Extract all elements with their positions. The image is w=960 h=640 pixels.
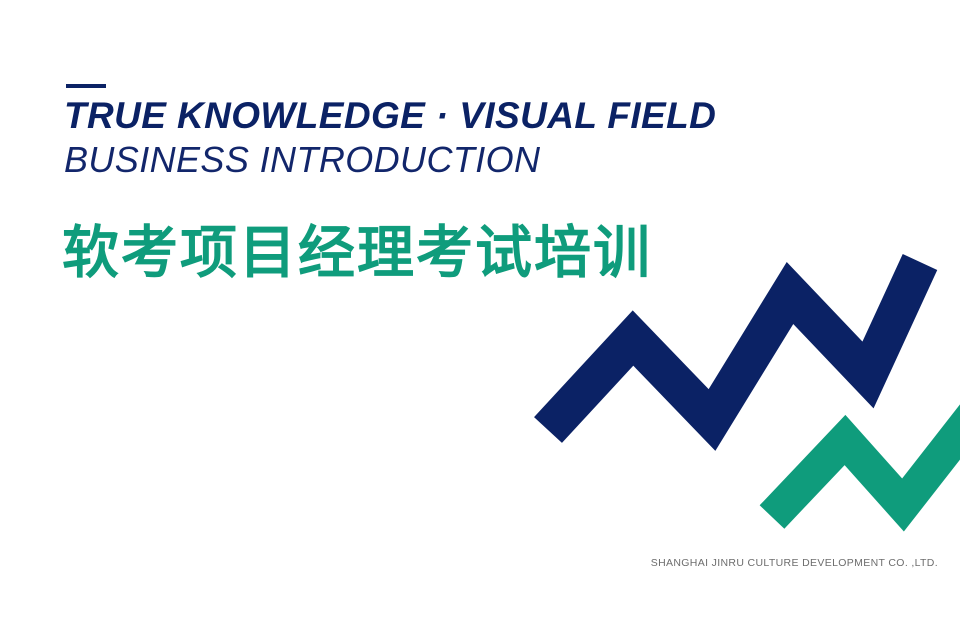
subtitle-english: BUSINESS INTRODUCTION	[64, 139, 824, 181]
page-title-chinese: 软考项目经理考试培训	[62, 224, 824, 284]
presentation-title-slide: TRUE KNOWLEDGE · VISUAL FIELD BUSINESS I…	[0, 0, 960, 640]
footer-company-name: SHANGHAI JINRU CULTURE DEVELOPMENT CO. ,…	[651, 557, 938, 569]
page-title-english: TRUE KNOWLEDGE · VISUAL FIELD	[64, 96, 824, 135]
navy-zigzag-icon	[548, 262, 920, 430]
accent-rule	[66, 84, 106, 88]
title-group: TRUE KNOWLEDGE · VISUAL FIELD BUSINESS I…	[64, 84, 824, 284]
teal-zigzag-icon	[772, 400, 960, 517]
